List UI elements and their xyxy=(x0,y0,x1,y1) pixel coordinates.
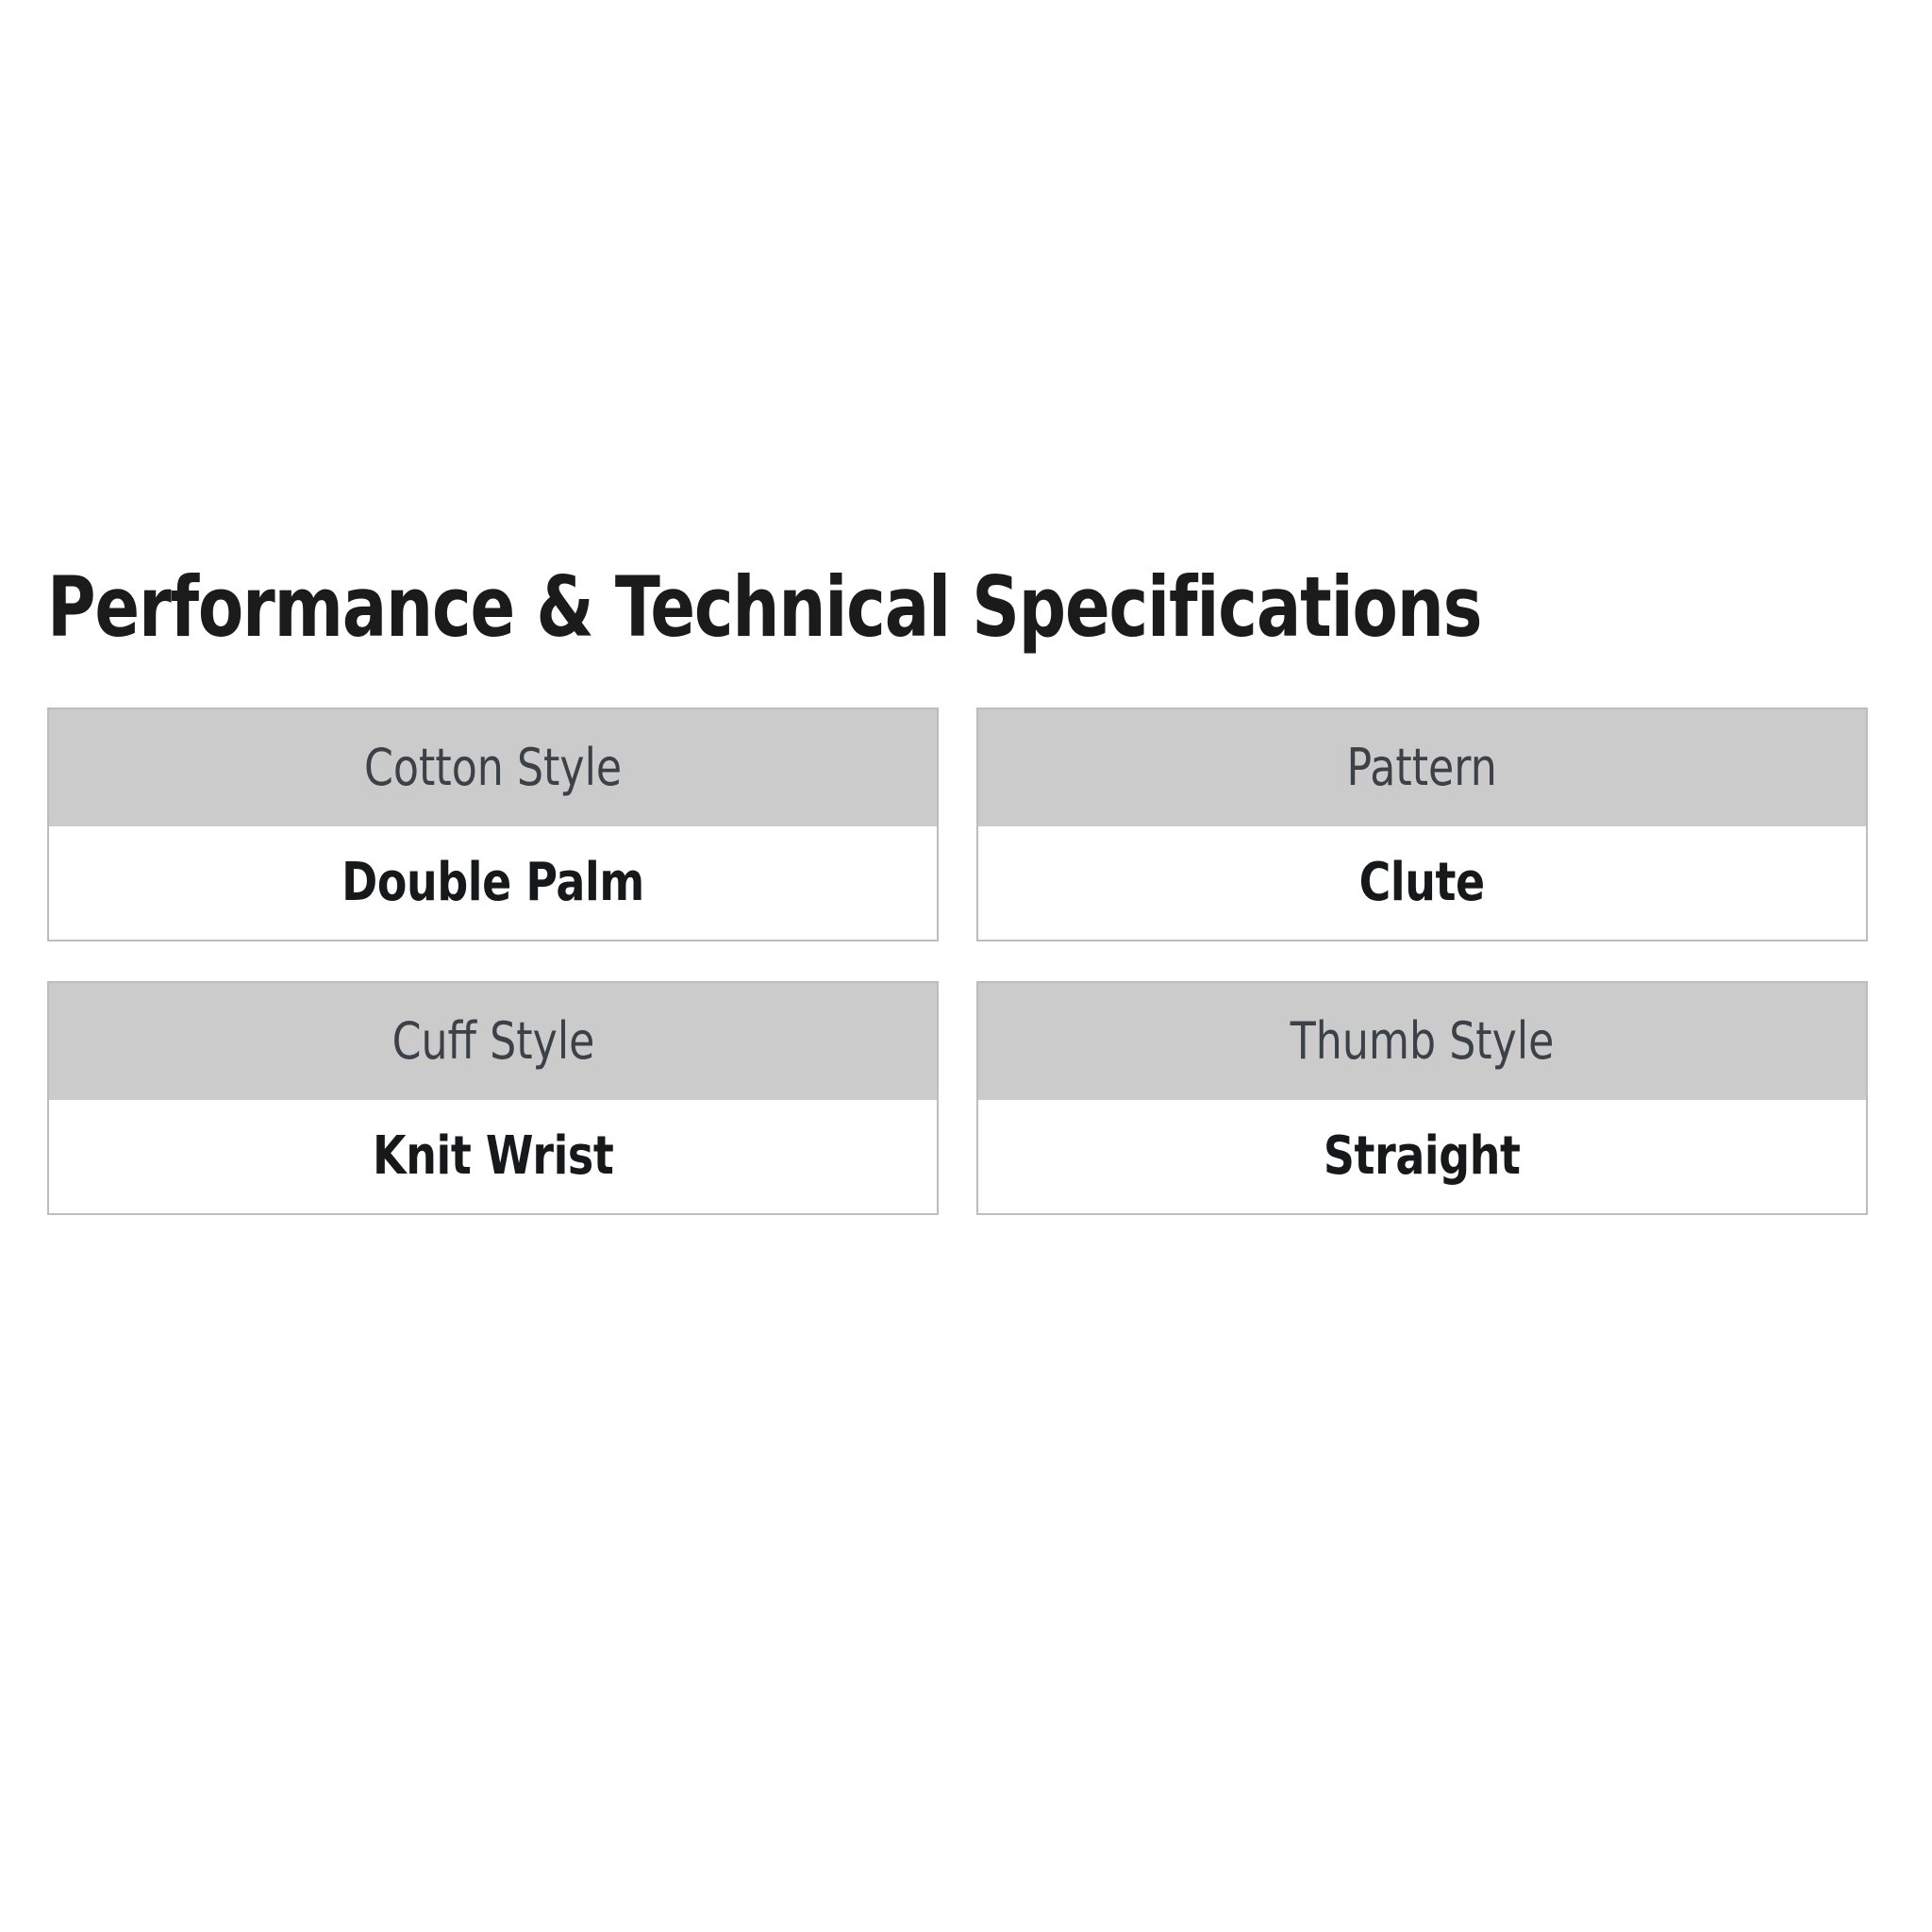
spec-card-pattern: Pattern Clute xyxy=(976,708,1868,941)
spec-card-header: Cotton Style xyxy=(49,709,937,826)
spec-value: Clute xyxy=(1359,857,1485,909)
spec-card-header: Cuff Style xyxy=(49,983,937,1100)
page-title: Performance & Technical Specifications xyxy=(47,566,1504,649)
specifications-page: Performance & Technical Specifications C… xyxy=(0,0,1932,1932)
spec-value: Double Palm xyxy=(341,857,644,909)
spec-value: Knit Wrist xyxy=(373,1130,613,1183)
spec-card-body: Clute xyxy=(978,826,1866,940)
spec-card-header: Thumb Style xyxy=(978,983,1866,1100)
spec-card-body: Knit Wrist xyxy=(49,1100,937,1213)
spec-card-cotton-style: Cotton Style Double Palm xyxy=(47,708,939,941)
spec-card-cuff-style: Cuff Style Knit Wrist xyxy=(47,981,939,1215)
spec-card-body: Double Palm xyxy=(49,826,937,940)
specifications-grid: Cotton Style Double Palm Pattern Clute C… xyxy=(47,708,1868,1215)
spec-label: Thumb Style xyxy=(1291,1016,1555,1067)
specifications-section: Performance & Technical Specifications C… xyxy=(47,566,1868,1215)
spec-card-body: Straight xyxy=(978,1100,1866,1213)
spec-label: Cotton Style xyxy=(364,742,622,793)
spec-label: Cuff Style xyxy=(391,1016,594,1067)
spec-value: Straight xyxy=(1324,1130,1521,1183)
spec-card-thumb-style: Thumb Style Straight xyxy=(976,981,1868,1215)
spec-label: Pattern xyxy=(1347,742,1497,793)
spec-card-header: Pattern xyxy=(978,709,1866,826)
